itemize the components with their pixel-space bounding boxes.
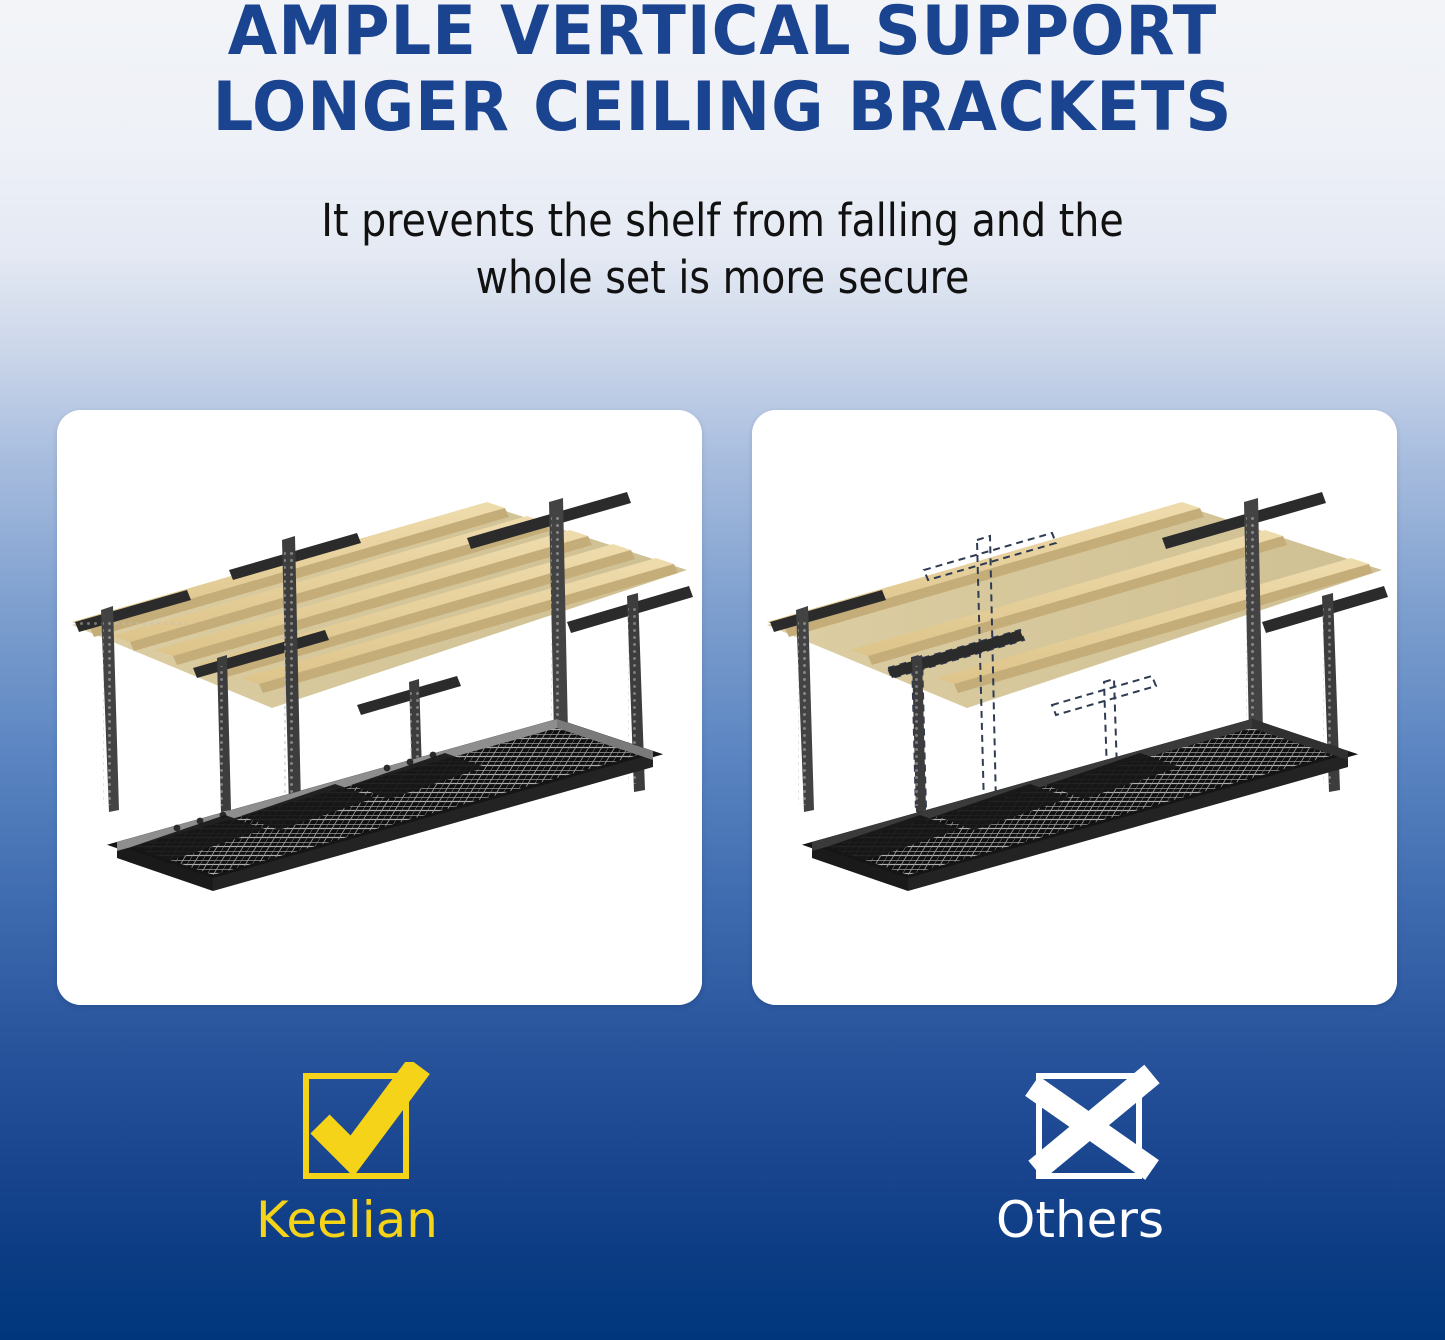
rack-illustration-others [752, 410, 1397, 1005]
shelf-mesh [117, 719, 653, 891]
subtitle-line-2: whole set is more secure [87, 249, 1359, 306]
subtitle-line-1: It prevents the shelf from falling and t… [87, 192, 1359, 249]
headline-line-1: AMPLE VERTICAL SUPPORT [43, 0, 1401, 70]
verdict-label-others: Others [880, 1188, 1280, 1252]
checkbox-check-icon [147, 1062, 547, 1190]
page-title: AMPLE VERTICAL SUPPORT LONGER CEILING BR… [43, 0, 1401, 146]
verdict-keelian: Keelian [147, 1062, 547, 1272]
shelf-mesh [812, 719, 1348, 891]
product-feature-graphic: AMPLE VERTICAL SUPPORT LONGER CEILING BR… [0, 0, 1445, 1340]
page-subtitle: It prevents the shelf from falling and t… [87, 192, 1359, 306]
bracket-assembly-1 [75, 590, 191, 812]
product-photo-card-keelian [57, 410, 702, 1005]
checkbox-cross-icon [880, 1062, 1280, 1190]
headline-line-2: LONGER CEILING BRACKETS [43, 70, 1401, 146]
verdict-others: Others [880, 1062, 1280, 1272]
verdict-label-keelian: Keelian [147, 1188, 547, 1252]
rack-illustration-keelian [57, 410, 702, 1005]
product-photo-card-others [752, 410, 1397, 1005]
